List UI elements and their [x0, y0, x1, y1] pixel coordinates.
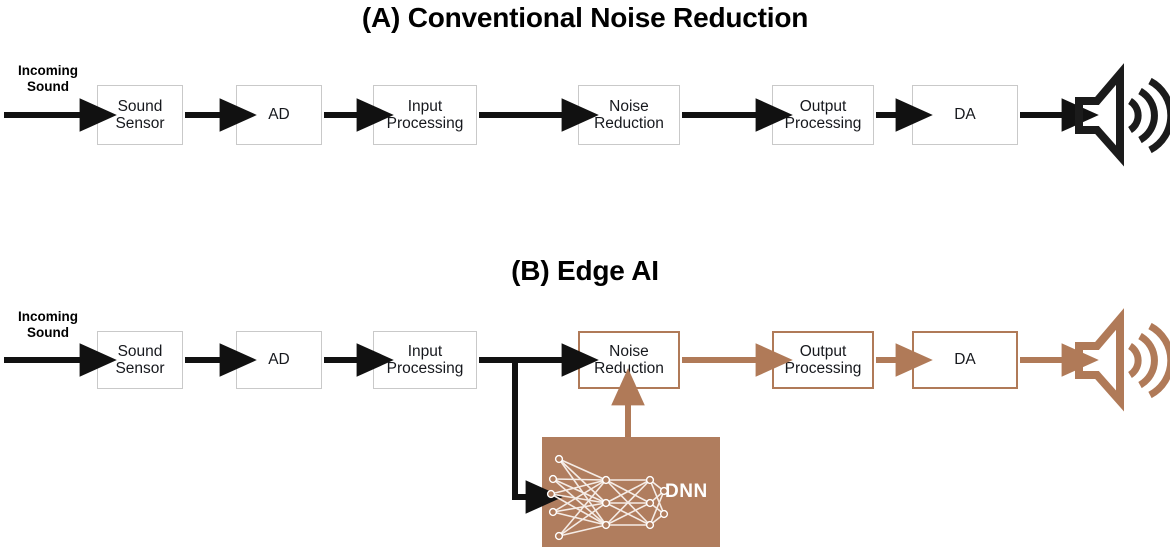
panel-b-title: (B) Edge AI: [0, 255, 1170, 287]
block-label-line1: Sound: [115, 343, 164, 360]
panel-a-block-sound-sensor: Sound Sensor: [97, 85, 183, 145]
block-label-line2: Processing: [785, 360, 862, 377]
block-label-line1: AD: [268, 106, 290, 123]
block-label-line1: Noise: [594, 343, 664, 360]
block-label-line2: Reduction: [594, 360, 664, 377]
block-label-line1: Input: [387, 98, 464, 115]
block-label-line1: AD: [268, 351, 290, 368]
block-label-line1: Input: [387, 343, 464, 360]
arrow-input-processing-to-dnn: [515, 360, 528, 497]
incoming-sound-line2: Sound: [4, 325, 92, 341]
dnn-label: DNN: [665, 481, 708, 503]
panel-b-block-noise-reduction: Noise Reduction: [578, 331, 680, 389]
block-label-line2: Sensor: [115, 360, 164, 377]
speaker-icon: [1079, 319, 1170, 401]
panel-b-block-da: DA: [912, 331, 1018, 389]
block-label-line1: Output: [785, 98, 862, 115]
panel-b-block-ad: AD: [236, 331, 322, 389]
block-label-line1: Noise: [594, 98, 664, 115]
figure-canvas: (A) Conventional Noise Reduction Incomin…: [0, 0, 1170, 553]
speaker-icon: [1079, 74, 1170, 156]
block-label-line1: Output: [785, 343, 862, 360]
panel-b-incoming-sound-label: Incoming Sound: [4, 309, 92, 340]
block-label-line1: DA: [954, 106, 976, 123]
block-label-line1: Sound: [115, 98, 164, 115]
panel-a-title: (A) Conventional Noise Reduction: [0, 2, 1170, 34]
panel-a-block-ad: AD: [236, 85, 322, 145]
panel-b-block-input-processing: Input Processing: [373, 331, 477, 389]
panel-a-block-da: DA: [912, 85, 1018, 145]
block-label-line2: Processing: [387, 360, 464, 377]
panel-b-block-sound-sensor: Sound Sensor: [97, 331, 183, 389]
block-label-line2: Reduction: [594, 115, 664, 132]
block-label-line2: Processing: [785, 115, 862, 132]
block-label-line2: Sensor: [115, 115, 164, 132]
block-label-line2: Processing: [387, 115, 464, 132]
block-label-line1: DA: [954, 351, 976, 368]
panel-a-incoming-sound-label: Incoming Sound: [4, 63, 92, 94]
panel-b-block-output-processing: Output Processing: [772, 331, 874, 389]
incoming-sound-line2: Sound: [4, 79, 92, 95]
incoming-sound-line1: Incoming: [4, 63, 92, 79]
panel-a-block-output-processing: Output Processing: [772, 85, 874, 145]
panel-a-block-noise-reduction: Noise Reduction: [578, 85, 680, 145]
panel-a-block-input-processing: Input Processing: [373, 85, 477, 145]
incoming-sound-line1: Incoming: [4, 309, 92, 325]
